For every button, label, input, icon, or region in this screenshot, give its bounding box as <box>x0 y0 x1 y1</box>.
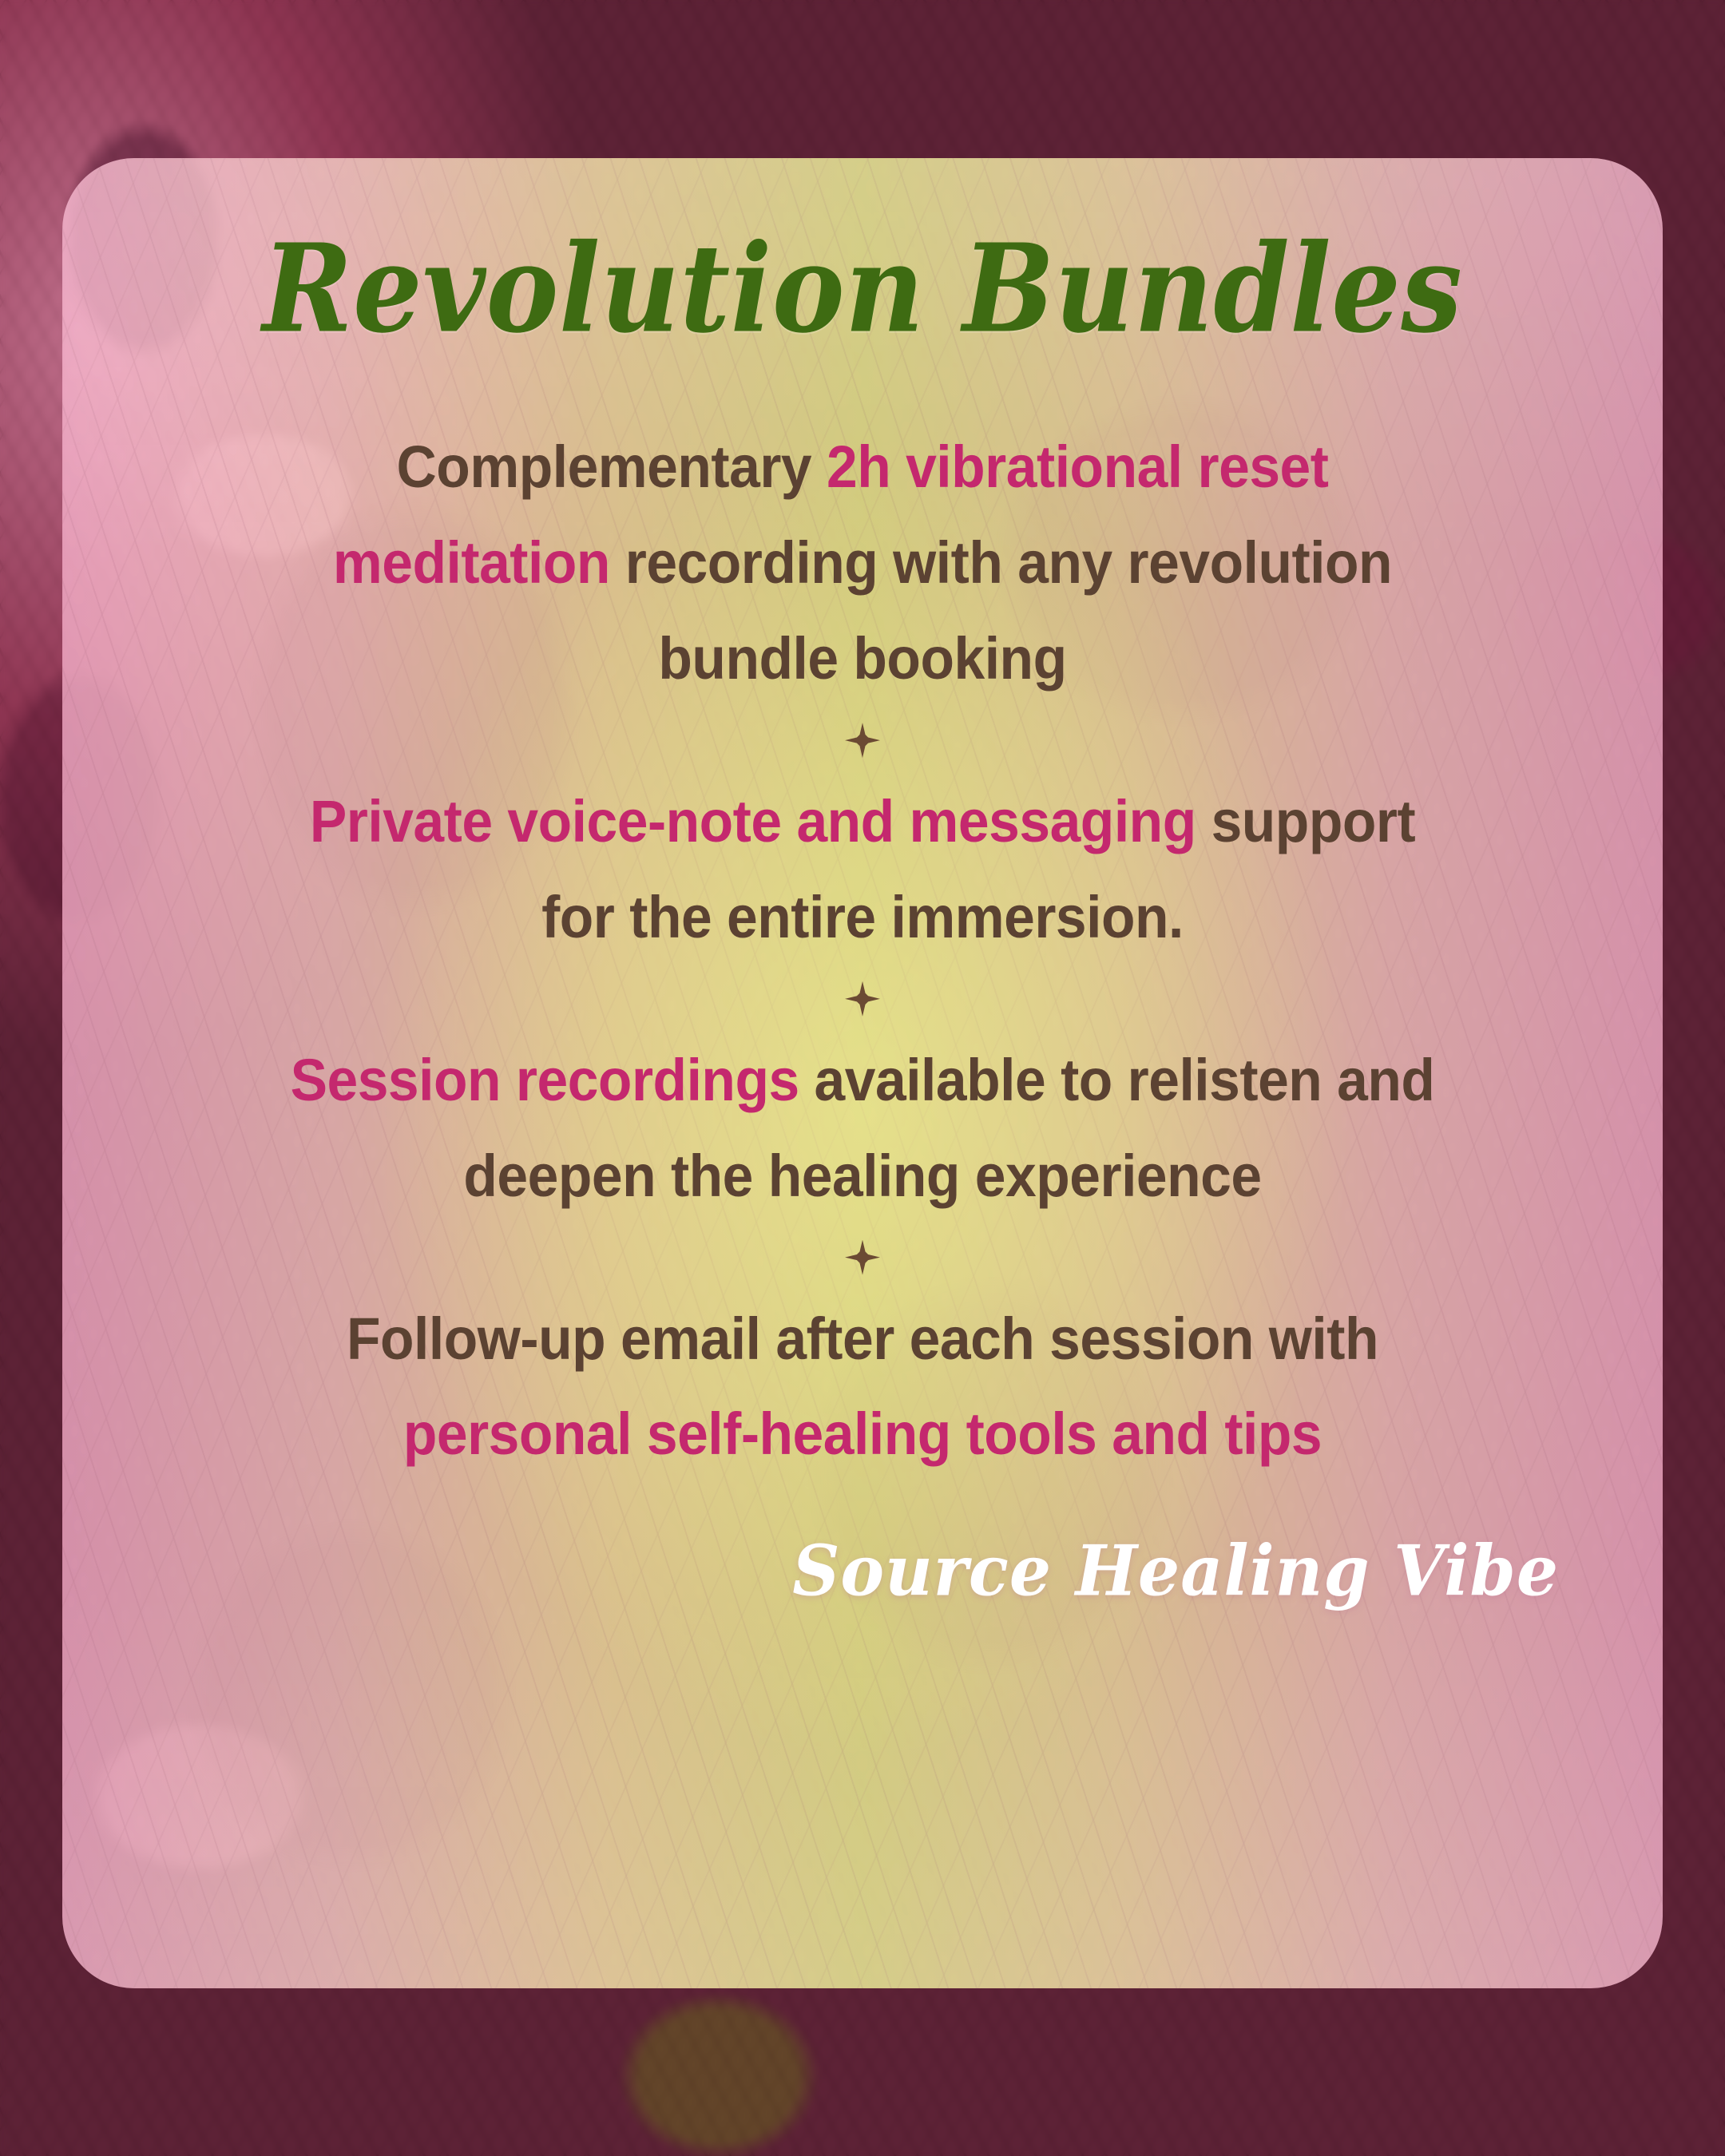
body-text: support <box>1196 788 1415 854</box>
signature-row: Source Healing Vibe <box>139 1533 1586 1610</box>
separator-1 <box>139 707 1586 774</box>
brand-signature: Source Healing Vibe <box>792 1531 1559 1612</box>
poster-canvas: Revolution Bundles Complementary 2h vibr… <box>0 0 1725 2156</box>
highlight-text: Session recordings <box>291 1047 799 1113</box>
body-text: bundle booking <box>658 625 1066 692</box>
sparkle-icon <box>845 723 880 758</box>
highlight-text: 2h vibrational reset <box>827 434 1328 500</box>
highlight-text: meditation <box>333 529 610 596</box>
benefit-block-1: Complementary 2h vibrational resetmedita… <box>182 419 1542 707</box>
body-text: for the entire immersion. <box>541 884 1184 950</box>
sparkle-icon <box>845 1240 880 1275</box>
benefit-line: deepen the healing experience <box>182 1128 1542 1224</box>
card-inner: Revolution Bundles Complementary 2h vibr… <box>62 158 1663 1988</box>
body-text: Complementary <box>397 434 827 500</box>
benefit-line: meditation recording with any revolution <box>182 515 1542 611</box>
body-text: deepen the healing experience <box>463 1143 1261 1209</box>
benefit-block-2: Private voice-note and messaging support… <box>182 774 1542 965</box>
sparkle-icon <box>845 981 880 1017</box>
benefit-block-3: Session recordings available to relisten… <box>182 1032 1542 1224</box>
body-text: recording with any revolution <box>610 529 1392 596</box>
page-title: Revolution Bundles <box>263 227 1463 353</box>
highlight-text: personal self-healing tools and tips <box>403 1401 1322 1467</box>
highlight-text: Private voice-note and messaging <box>310 788 1196 854</box>
benefit-block-4: Follow-up email after each session withp… <box>182 1291 1542 1483</box>
benefit-line: personal self-healing tools and tips <box>182 1386 1542 1482</box>
body-text: available to relisten and <box>799 1047 1435 1113</box>
benefit-line: Private voice-note and messaging support <box>182 774 1542 870</box>
benefit-line: Session recordings available to relisten… <box>182 1032 1542 1128</box>
body-text: Follow-up email after each session with <box>347 1306 1378 1372</box>
separator-3 <box>139 1224 1586 1291</box>
benefit-line: for the entire immersion. <box>182 870 1542 965</box>
benefit-line: bundle booking <box>182 611 1542 707</box>
benefit-line: Follow-up email after each session with <box>182 1291 1542 1387</box>
content-card: Revolution Bundles Complementary 2h vibr… <box>62 158 1663 1988</box>
benefit-line: Complementary 2h vibrational reset <box>182 419 1542 515</box>
separator-2 <box>139 965 1586 1032</box>
